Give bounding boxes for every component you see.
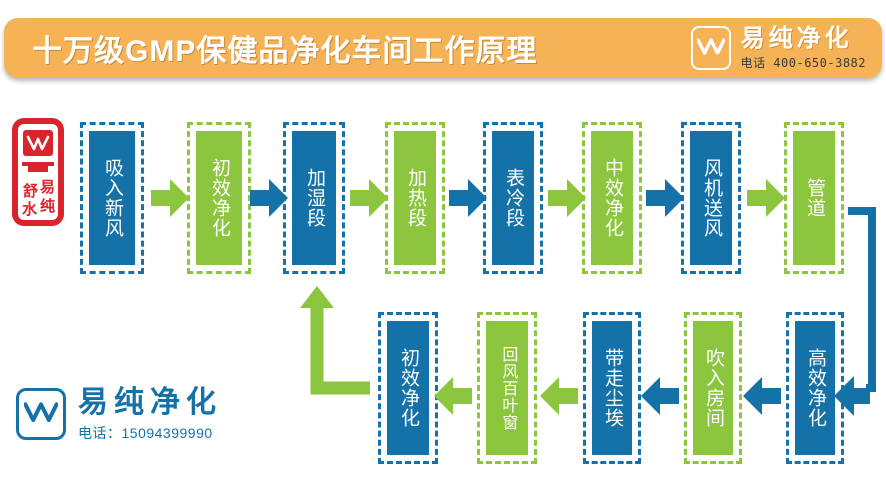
arrow-row1-5: [646, 179, 684, 217]
flow-node-fill: 初效净化: [387, 321, 429, 455]
page-title: 十万级GMP保健品净化车间工作原理: [32, 26, 537, 70]
flow-node-row2-4[interactable]: 高效净化: [786, 312, 844, 464]
flow-node-row2-3[interactable]: 吹入房间: [684, 312, 742, 464]
header-banner: 十万级GMP保健品净化车间工作原理 易纯净化 电话 400-650-3882: [4, 18, 882, 78]
flow-node-row1-2[interactable]: 加湿段: [283, 122, 345, 274]
arrow-row2-2: [641, 377, 679, 415]
footer-phone: 电话：15094399990: [78, 426, 213, 440]
flow-node-row1-7[interactable]: 管道: [784, 122, 844, 274]
flow-node-row1-3[interactable]: 加热段: [385, 122, 445, 274]
flow-node-label: 风机送风: [701, 158, 721, 238]
flow-node-fill: 吸入新风: [89, 131, 135, 265]
flow-node-fill: 回风百叶窗: [486, 321, 528, 455]
svg-text:纯: 纯: [40, 197, 55, 215]
flow-node-label: 吸入新风: [102, 158, 122, 238]
flow-node-fill: 加湿段: [292, 131, 336, 265]
svg-text:易: 易: [40, 178, 55, 196]
arrow-row1-2: [350, 179, 388, 217]
flow-node-fill: 表冷段: [492, 131, 534, 265]
flow-node-row2-0[interactable]: 初效净化: [378, 312, 438, 464]
flow-node-label: 加湿段: [304, 168, 324, 228]
red-seal-stamp-icon: 舒 易 水 纯: [12, 118, 64, 226]
flow-node-label: 回风百叶窗: [499, 346, 516, 431]
arrow-row2-3: [743, 377, 781, 415]
flow-node-row1-1[interactable]: 初效净化: [187, 122, 251, 274]
flow-node-label: 初效净化: [398, 348, 418, 428]
flow-node-row1-5[interactable]: 中效净化: [582, 122, 642, 274]
flow-node-row2-1[interactable]: 回风百叶窗: [477, 312, 537, 464]
flow-node-fill: 高效净化: [795, 321, 835, 455]
flow-node-label: 高效净化: [805, 348, 825, 428]
flow-node-label: 带走尘埃: [602, 348, 622, 428]
yichun-w-mark-icon: [16, 388, 66, 440]
flow-node-label: 表冷段: [503, 168, 523, 228]
footer-logo: 易纯净化 电话：15094399990: [16, 388, 222, 440]
flow-node-fill: 吹入房间: [693, 321, 733, 455]
yichun-w-mark-icon: [691, 26, 731, 70]
arrow-row1-3: [449, 179, 487, 217]
flow-node-fill: 中效净化: [591, 131, 633, 265]
flow-node-label: 加热段: [405, 168, 425, 228]
flow-node-row1-4[interactable]: 表冷段: [483, 122, 543, 274]
svg-text:水: 水: [22, 200, 38, 218]
arrow-row2-0: [434, 377, 472, 415]
flow-node-fill: 管道: [793, 131, 835, 265]
flow-node-row1-0[interactable]: 吸入新风: [80, 122, 144, 274]
footer-brand-name: 易纯净化: [78, 388, 222, 418]
header-logo: 易纯净化 电话 400-650-3882: [691, 26, 866, 70]
flow-node-label: 吹入房间: [703, 348, 723, 428]
flow-node-row1-6[interactable]: 风机送风: [681, 122, 741, 274]
flow-node-row2-2[interactable]: 带走尘埃: [583, 312, 641, 464]
flow-node-fill: 加热段: [394, 131, 436, 265]
svg-text:舒: 舒: [23, 182, 38, 200]
arrow-row1-6: [747, 179, 785, 217]
arrow-row2-1: [540, 377, 578, 415]
header-phone: 电话 400-650-3882: [741, 57, 866, 69]
flow-node-fill: 初效净化: [196, 131, 242, 265]
arrow-row1-0: [151, 179, 189, 217]
header-brand-name: 易纯净化: [741, 27, 853, 51]
flow-node-fill: 带走尘埃: [592, 321, 632, 455]
flow-node-fill: 风机送风: [690, 131, 732, 265]
flow-node-label: 初效净化: [209, 158, 229, 238]
arrow-row1-4: [548, 179, 586, 217]
flow-node-label: 管道: [804, 178, 824, 218]
flow-node-label: 中效净化: [602, 158, 622, 238]
connector-left-green: [300, 286, 370, 388]
